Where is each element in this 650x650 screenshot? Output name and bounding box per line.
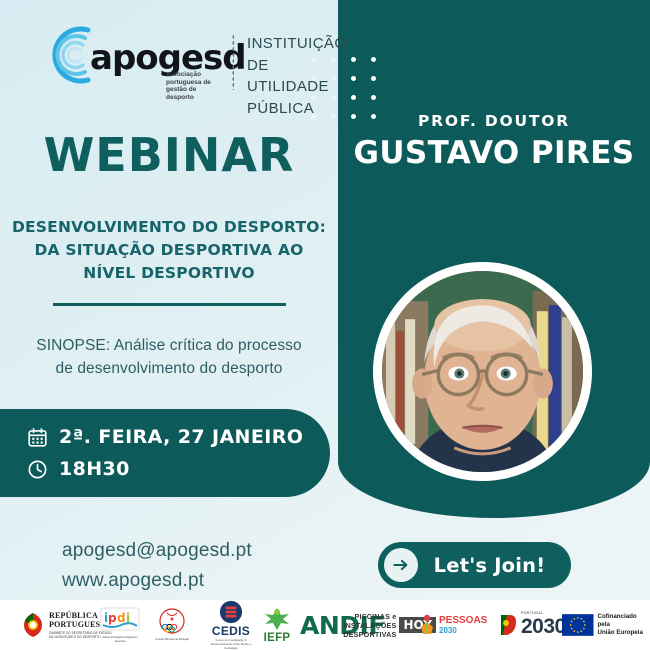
portugal-flag-icon	[497, 612, 519, 638]
iefp-name: IEFP	[264, 632, 291, 644]
grid-dot	[351, 95, 356, 100]
pessoas-name: PESSOAS	[439, 616, 487, 626]
iefp-icon	[262, 606, 292, 632]
logo-iefp: IEFP	[262, 600, 292, 650]
partner-logos: REPÚBLICA PORTUGUESA GABINETE DO SECRETÁ…	[0, 600, 650, 650]
grid-dot	[351, 76, 356, 81]
apogesd-logo: apogesd associação portuguesa de gestão …	[44, 20, 314, 95]
contact-email[interactable]: apogesd@apogesd.pt	[62, 536, 252, 566]
pessoas-year: 2030	[439, 626, 487, 635]
eu-funding-text: Cofinanciado pela União Europeia	[598, 613, 650, 637]
logo-piscinas-hoy: PISCINAS e INSTALAÇÕES DESPORTIVAS HOY	[306, 600, 436, 650]
speaker-avatar	[382, 271, 583, 472]
calendar-icon	[27, 427, 48, 448]
institution-label: INSTITUIÇÃO DE UTILIDADE PÚBLICA	[247, 33, 346, 119]
cedis-name: CEDIS	[212, 624, 250, 638]
cedis-icon	[218, 600, 244, 624]
schedule-time-row: 18H30	[27, 458, 130, 480]
olympic-committee-icon: ★	[154, 608, 190, 638]
piscinas-name: PISCINAS e INSTALAÇÕES DESPORTIVAS	[306, 612, 396, 639]
schedule-time: 18H30	[59, 458, 130, 480]
contact-block: apogesd@apogesd.pt www.apogesd.pt	[62, 536, 252, 596]
arrow-right-icon	[384, 548, 418, 582]
page-title: WEBINAR	[0, 128, 338, 182]
speaker-title: PROF. DOUTOR	[338, 112, 650, 130]
join-button[interactable]: Let's Join!	[378, 542, 571, 588]
webinar-subject: DESENVOLVIMENTO DO DESPORTO: DA SITUAÇÃO…	[10, 216, 328, 285]
speaker-portrait-illustration	[382, 271, 583, 472]
grid-dot	[371, 95, 376, 100]
svg-text:★: ★	[169, 616, 174, 623]
schedule-band: 2ª. FEIRA, 27 JANEIRO 18H30	[0, 409, 330, 497]
portugal-year: 2030	[521, 615, 566, 639]
olympic-sub: Comité Olímpico de Portugal	[152, 638, 192, 642]
speaker-name: GUSTAVO PIRES	[338, 135, 650, 171]
logo-pessoas-2030: PESSOAS 2030	[418, 600, 487, 650]
join-button-label: Let's Join!	[418, 554, 571, 577]
svg-text:p: p	[108, 611, 117, 625]
schedule-date-row: 2ª. FEIRA, 27 JANEIRO	[27, 426, 303, 448]
divider-rule	[53, 303, 286, 306]
schedule-date: 2ª. FEIRA, 27 JANEIRO	[59, 426, 303, 448]
logo-cedis: CEDIS Centro de Investigação & Desenvolv…	[205, 600, 257, 650]
grid-dot	[351, 57, 356, 62]
eu-flag-icon	[562, 614, 594, 636]
republica-shield-icon	[22, 612, 44, 638]
logo-comite-olimpico: ★ Comité Olímpico de Portugal	[152, 600, 192, 650]
clock-icon	[27, 459, 48, 480]
webinar-poster: apogesd associação portuguesa de gestão …	[0, 0, 650, 650]
logo-divider	[232, 34, 234, 90]
logo-tagline: associação portuguesa de gestão de despo…	[166, 71, 211, 101]
logo-uniao-europeia: Cofinanciado pela União Europeia	[562, 600, 650, 650]
speaker-photo-ring	[373, 262, 592, 481]
webinar-synopsis: SINOPSE: Análise crítica do processo de …	[8, 334, 330, 380]
logo-ipdj: i p d j Instituto Português do Desporto …	[98, 600, 142, 650]
cedis-sub: Centro de Investigação & Desenvolvimento…	[205, 638, 257, 650]
grid-dot	[371, 57, 376, 62]
logo-portugal-2030: PORTUGAL 2030	[497, 600, 566, 650]
pessoas-icon	[418, 614, 436, 636]
contact-website[interactable]: www.apogesd.pt	[62, 566, 252, 596]
grid-dot	[371, 76, 376, 81]
ipdj-icon: i p d j	[100, 607, 140, 635]
ipdj-sub: Instituto Português do Desporto e Juvent…	[98, 636, 142, 644]
